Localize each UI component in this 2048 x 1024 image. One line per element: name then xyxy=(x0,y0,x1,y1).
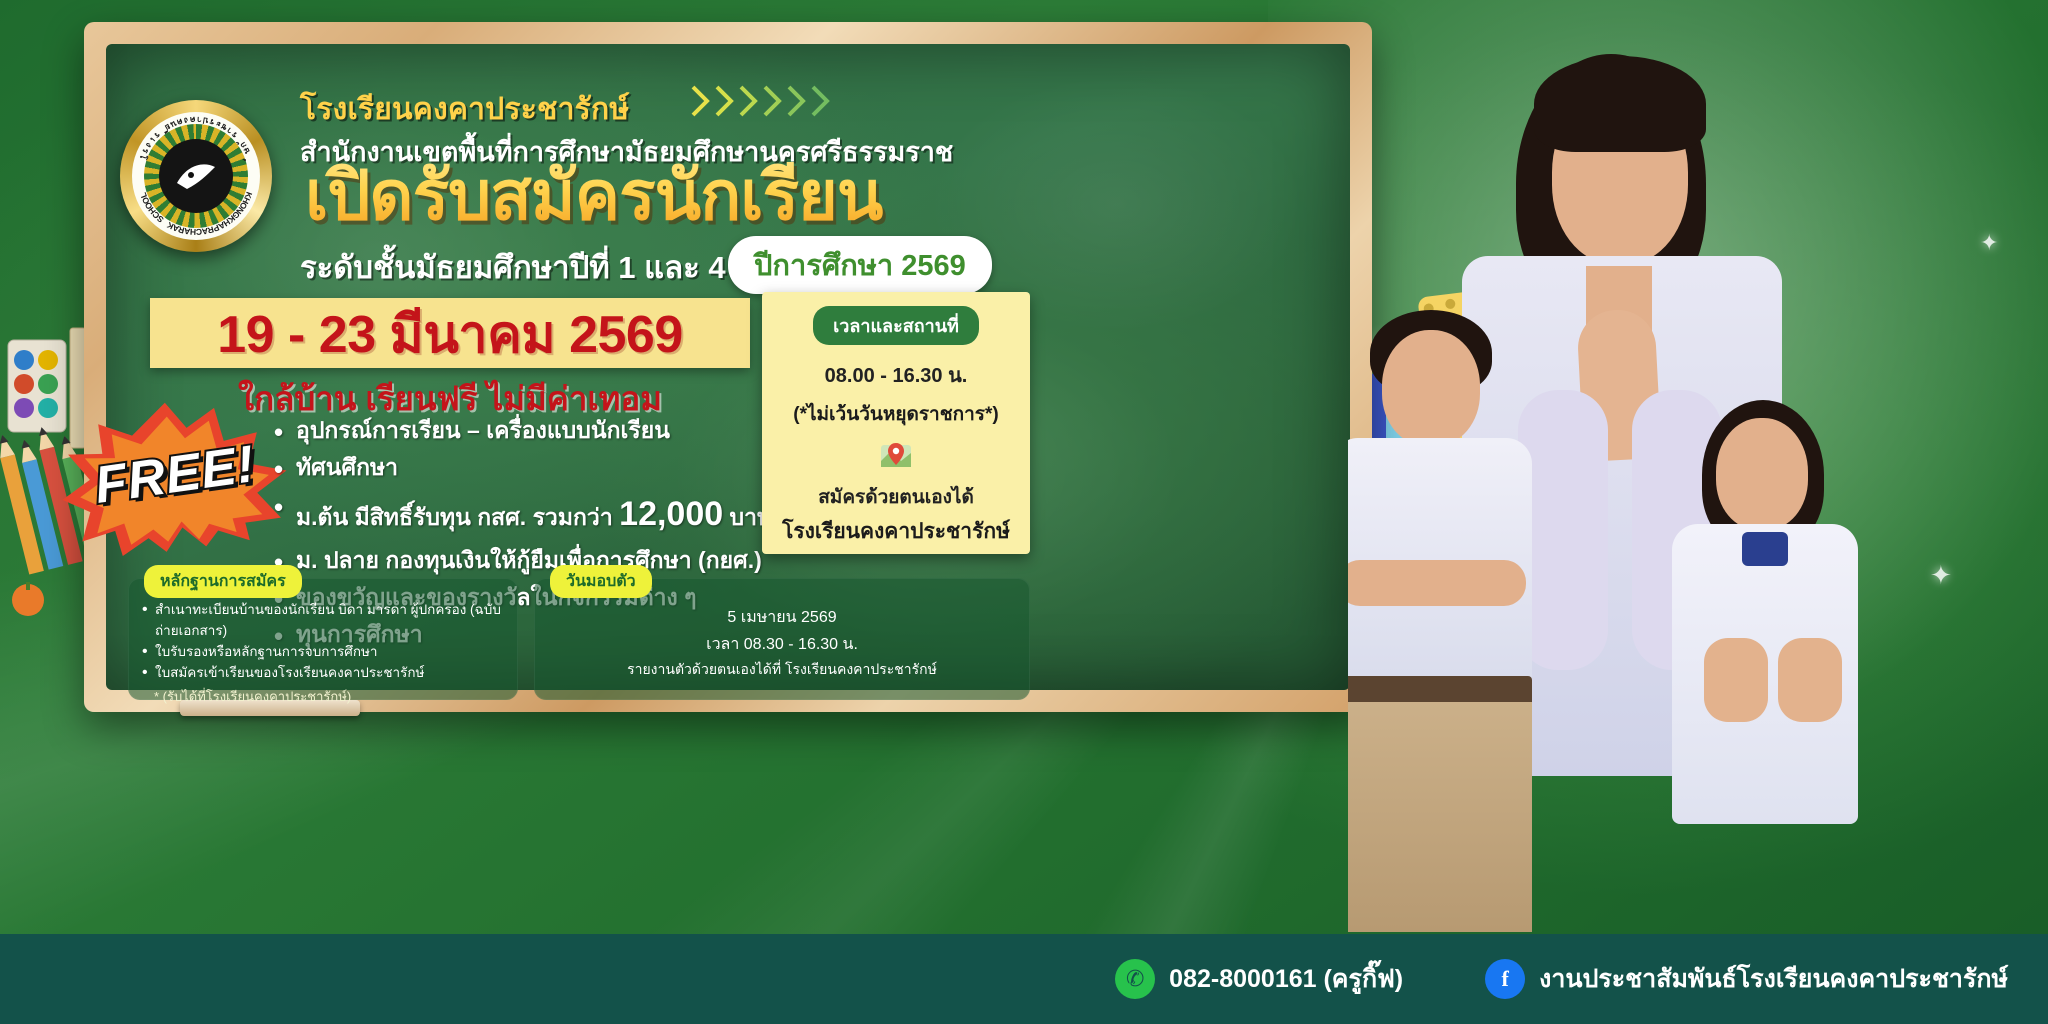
report-day-panel: วันมอบตัว 5 เมษายน 2569 เวลา 08.30 - 16.… xyxy=(534,578,1030,700)
required-documents-panel: หลักฐานการสมัคร สำเนาทะเบียนบ้านของนักเร… xyxy=(128,578,518,700)
map-pin-icon xyxy=(879,439,913,473)
list-item: สำเนาทะเบียนบ้านของนักเรียน บิดา มารดา ผ… xyxy=(142,600,518,642)
list-item: ทัศนศึกษา xyxy=(272,449,792,486)
facebook-icon: f xyxy=(1485,959,1525,999)
list-item: ม. ปลาย กองทุนเงินให้กู้ยืมเพื่อการศึกษา… xyxy=(272,542,792,579)
report-place: รายงานตัวด้วยตนเองได้ที่ โรงเรียนคงคาประ… xyxy=(534,658,1030,682)
phone-icon: ✆ xyxy=(1115,959,1155,999)
facebook-contact[interactable]: f งานประชาสัมพันธ์โรงเรียนคงคาประชารักษ์ xyxy=(1485,959,2008,999)
poster-root: ✦ ✦ ✦ ✦ xyxy=(0,0,2048,1024)
report-day-label: วันมอบตัว xyxy=(550,565,652,598)
list-item: อุปกรณ์การเรียน – เครื่องแบบนักเรียน xyxy=(272,412,792,449)
report-time: เวลา 08.30 - 16.30 น. xyxy=(534,631,1030,658)
school-logo: โรงเรียนคงคาประชารักษ์KHONGKHAPRACHARAK … xyxy=(120,100,272,252)
report-date: 5 เมษายน 2569 xyxy=(534,604,1030,631)
phone-number: 082-8000161 (ครูกิ๊ฟ) xyxy=(1169,959,1403,999)
school-name: โรงเรียนคงคาประชารักษ์ xyxy=(300,86,1000,133)
logo-ring-text: โรงเรียนคงคาประชารักษ์KHONGKHAPRACHARAK … xyxy=(132,112,260,240)
facebook-page-name: งานประชาสัมพันธ์โรงเรียนคงคาประชารักษ์ xyxy=(1539,959,2008,999)
time-and-place-card: เวลาและสถานที่ 08.00 - 16.30 น. (*ไม่เว้… xyxy=(762,292,1030,554)
list-item: ใบรับรองหรือหลักฐานการจบการศึกษา xyxy=(142,642,518,663)
chevron-decoration xyxy=(690,84,832,118)
page-title: เปิดรับสมัครนักเรียน xyxy=(305,162,1065,230)
time-place-label: เวลาและสถานที่ xyxy=(813,306,979,345)
application-date-banner: 19 - 23 มีนาคม 2569 xyxy=(150,298,750,368)
free-badge: FREE! xyxy=(51,385,300,566)
list-item: ม.ต้น มีสิทธิ์รับทุน กสศ. รวมกว่า 12,000… xyxy=(272,487,792,542)
office-hours: 08.00 - 16.30 น. xyxy=(762,359,1030,391)
required-documents-label: หลักฐานการสมัคร xyxy=(144,565,302,598)
documents-note: * (รับได้ที่โรงเรียนคงคาประชารักษ์) xyxy=(128,686,518,707)
apply-location-school: โรงเรียนคงคาประชารักษ์ xyxy=(762,515,1030,548)
footer-contact-bar: ✆ 082-8000161 (ครูกิ๊ฟ) f งานประชาสัมพัน… xyxy=(0,934,2048,1024)
phone-contact[interactable]: ✆ 082-8000161 (ครูกิ๊ฟ) xyxy=(1115,959,1403,999)
list-item: ใบสมัครเข้าเรียนของโรงเรียนคงคาประชารักษ… xyxy=(142,663,518,684)
holiday-note: (*ไม่เว้นวันหยุดราชการ*) xyxy=(762,399,1030,429)
apply-in-person-text: สมัครด้วยตนเองได้ xyxy=(762,482,1030,512)
students-photo xyxy=(1348,0,2048,935)
academic-year-badge: ปีการศึกษา 2569 xyxy=(728,236,992,294)
free-badge-text: FREE! xyxy=(51,385,300,566)
grade-level-line: ระดับชั้นมัธยมศึกษาปีที่ 1 และ 4 xyxy=(300,242,726,292)
application-date-text: 19 - 23 มีนาคม 2569 xyxy=(217,292,683,375)
